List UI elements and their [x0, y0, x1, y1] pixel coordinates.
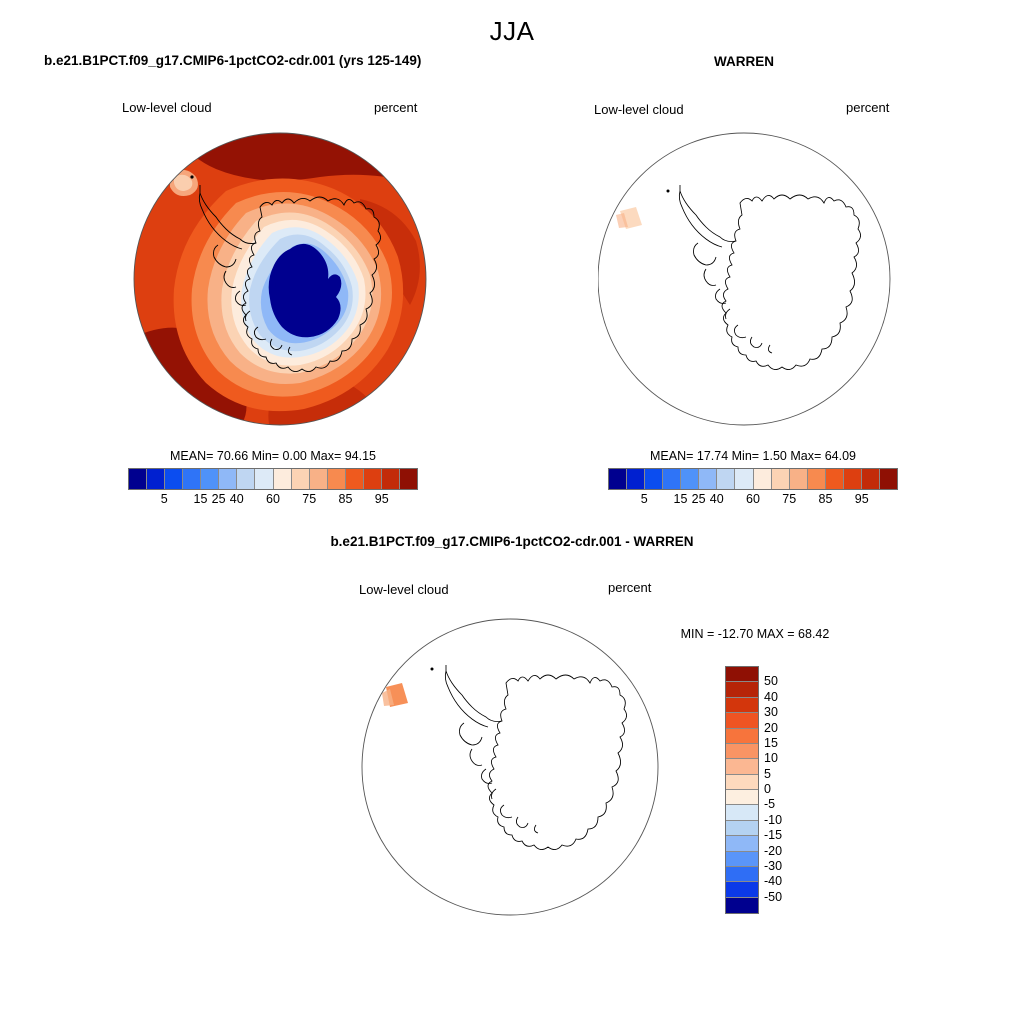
colorbar-segment: [717, 469, 735, 489]
colorbar-segment: [346, 469, 364, 489]
colorbar-tick-label: 25: [212, 492, 226, 506]
colorbar-segment: [699, 469, 717, 489]
difference-panel-title: b.e21.B1PCT.f09_g17.CMIP6-1pctCO2-cdr.00…: [252, 534, 772, 549]
colorbar-segment: [726, 682, 758, 697]
colorbar-tick-label: 60: [746, 492, 760, 506]
colorbar-tick-label: 40: [764, 690, 778, 704]
colorbar-tick-label: 85: [819, 492, 833, 506]
colorbar-segment: [880, 469, 897, 489]
colorbar-segment: [364, 469, 382, 489]
model-panel-title: b.e21.B1PCT.f09_g17.CMIP6-1pctCO2-cdr.00…: [44, 53, 421, 68]
colorbar-segment: [726, 836, 758, 851]
colorbar-segment: [165, 469, 183, 489]
colorbar-segment: [609, 469, 627, 489]
obs-colorbar[interactable]: [608, 468, 898, 490]
difference-variable-label: Low-level cloud: [359, 582, 449, 597]
colorbar-segment: [726, 867, 758, 882]
colorbar-segment: [726, 667, 758, 682]
colorbar-segment: [726, 729, 758, 744]
colorbar-tick-label: -50: [764, 890, 782, 904]
colorbar-segment: [681, 469, 699, 489]
model-units-label: percent: [374, 100, 417, 115]
obs-panel-title: WARREN: [560, 54, 928, 69]
colorbar-segment: [274, 469, 292, 489]
colorbar-segment: [726, 805, 758, 820]
colorbar-tick-label: 5: [764, 767, 771, 781]
colorbar-tick-label: -10: [764, 813, 782, 827]
colorbar-segment: [255, 469, 273, 489]
colorbar-segment: [726, 744, 758, 759]
difference-units-label: percent: [608, 580, 651, 595]
colorbar-segment: [627, 469, 645, 489]
colorbar-segment: [862, 469, 880, 489]
colorbar-segment: [645, 469, 663, 489]
colorbar-tick-label: 5: [161, 492, 168, 506]
colorbar-tick-label: 85: [339, 492, 353, 506]
colorbar-tick-label: 25: [692, 492, 706, 506]
model-colorbar-labels: 515254060758595: [128, 492, 418, 508]
colorbar-tick-label: 15: [194, 492, 208, 506]
colorbar-tick-label: 40: [710, 492, 724, 506]
colorbar-segment: [726, 852, 758, 867]
obs-map-plot[interactable]: [598, 129, 898, 429]
colorbar-segment: [735, 469, 753, 489]
colorbar-segment: [726, 898, 758, 913]
obs-stats-line: MEAN= 17.74 Min= 1.50 Max= 64.09: [608, 449, 898, 463]
colorbar-segment: [328, 469, 346, 489]
colorbar-tick-label: 95: [375, 492, 389, 506]
colorbar-segment: [147, 469, 165, 489]
difference-colorbar[interactable]: [725, 666, 759, 914]
colorbar-segment: [726, 775, 758, 790]
colorbar-segment: [183, 469, 201, 489]
colorbar-segment: [754, 469, 772, 489]
difference-colorbar-labels: 50403020151050-5-10-15-20-30-40-50: [764, 666, 808, 912]
colorbar-tick-label: 30: [764, 705, 778, 719]
model-variable-label: Low-level cloud: [122, 100, 212, 115]
colorbar-segment: [726, 882, 758, 897]
obs-map-svg: [598, 129, 898, 429]
colorbar-segment: [219, 469, 237, 489]
colorbar-segment: [726, 713, 758, 728]
colorbar-segment: [201, 469, 219, 489]
colorbar-tick-label: -5: [764, 797, 775, 811]
colorbar-tick-label: -15: [764, 828, 782, 842]
colorbar-segment: [310, 469, 328, 489]
difference-minmax-line: MIN = -12.70 MAX = 68.42: [660, 627, 850, 641]
colorbar-segment: [808, 469, 826, 489]
colorbar-segment: [726, 759, 758, 774]
obs-variable-label: Low-level cloud: [594, 102, 684, 117]
colorbar-tick-label: 20: [764, 721, 778, 735]
colorbar-tick-label: 15: [674, 492, 688, 506]
colorbar-tick-label: 75: [302, 492, 316, 506]
colorbar-tick-label: 5: [641, 492, 648, 506]
colorbar-tick-label: 10: [764, 751, 778, 765]
colorbar-tick-label: 0: [764, 782, 771, 796]
colorbar-tick-label: 95: [855, 492, 869, 506]
figure-season-title: JJA: [0, 16, 1024, 47]
colorbar-tick-label: 15: [764, 736, 778, 750]
colorbar-segment: [292, 469, 310, 489]
colorbar-tick-label: 50: [764, 674, 778, 688]
difference-map-svg: [360, 615, 665, 920]
colorbar-segment: [772, 469, 790, 489]
model-map-svg: [130, 129, 430, 429]
model-stats-line: MEAN= 70.66 Min= 0.00 Max= 94.15: [128, 449, 418, 463]
colorbar-segment: [129, 469, 147, 489]
colorbar-segment: [726, 698, 758, 713]
colorbar-tick-label: 75: [782, 492, 796, 506]
colorbar-tick-label: -40: [764, 874, 782, 888]
colorbar-segment: [400, 469, 417, 489]
colorbar-tick-label: -30: [764, 859, 782, 873]
colorbar-segment: [237, 469, 255, 489]
model-contour-fill: [130, 129, 430, 429]
colorbar-segment: [726, 790, 758, 805]
colorbar-tick-label: 60: [266, 492, 280, 506]
colorbar-segment: [382, 469, 400, 489]
colorbar-segment: [790, 469, 808, 489]
model-colorbar[interactable]: [128, 468, 418, 490]
colorbar-segment: [826, 469, 844, 489]
model-map-plot[interactable]: [130, 129, 430, 429]
colorbar-segment: [844, 469, 862, 489]
obs-colorbar-labels: 515254060758595: [608, 492, 898, 508]
difference-map-plot[interactable]: [360, 615, 665, 920]
colorbar-segment: [663, 469, 681, 489]
obs-units-label: percent: [846, 100, 889, 115]
colorbar-segment: [726, 821, 758, 836]
colorbar-tick-label: -20: [764, 844, 782, 858]
colorbar-tick-label: 40: [230, 492, 244, 506]
